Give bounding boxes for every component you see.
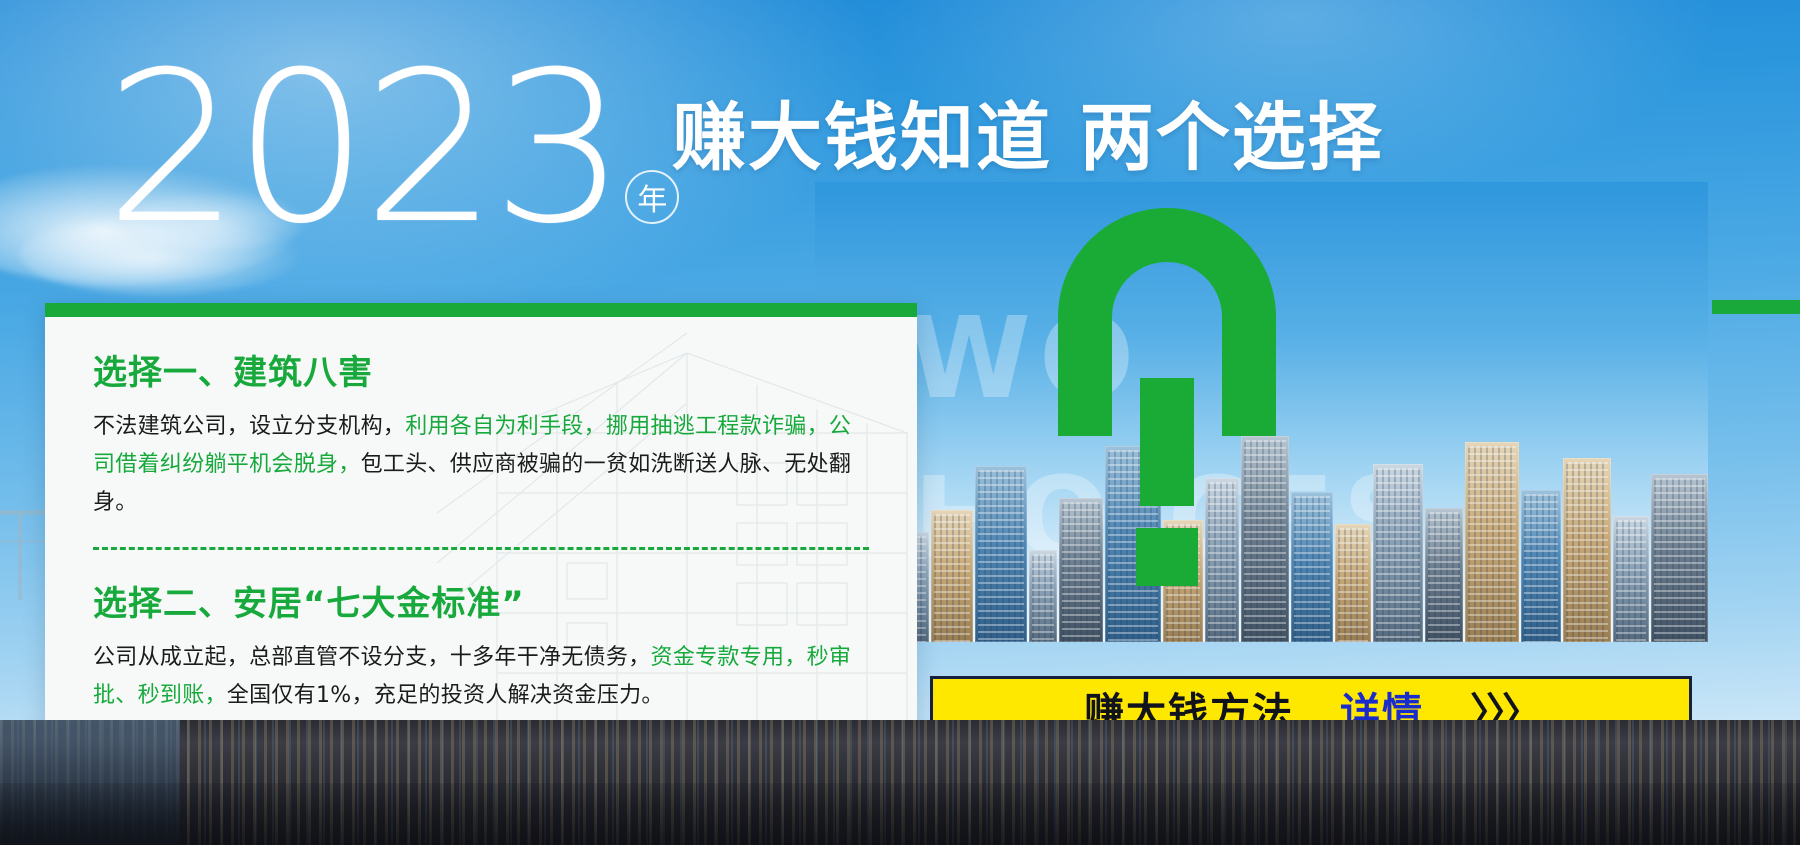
card-body: 选择一、建筑八害 不法建筑公司，设立分支机构，利用各自为利手段，挪用抽逃工程款诈…: [45, 303, 917, 715]
promo-poster: 2023 年 赚大钱知道 两个选择 TWO CHOICES: [0, 0, 1800, 845]
section-two-part-1: 公司从成立起，总部直管不设分支，十多年干净无债务，: [93, 645, 651, 670]
section-one-text: 不法建筑公司，设立分支机构，利用各自为利手段，挪用抽逃工程款诈骗，公司借着纠纷躺…: [93, 408, 869, 521]
section-two-text: 公司从成立起，总部直管不设分支，十多年干净无债务，资金专款专用，秒审批、秒到账，…: [93, 639, 869, 715]
section-two-title: 选择二、安居“七大金标准”: [93, 576, 869, 625]
section-two-part-3: 全国仅有1%，充足的投资人解决资金压力。: [227, 683, 664, 708]
section-one-part-1: 不法建筑公司，设立分支机构，: [93, 414, 405, 439]
page-title: 赚大钱知道 两个选择: [672, 78, 1384, 185]
section-two: 选择二、安居“七大金标准” 公司从成立起，总部直管不设分支，十多年干净无债务，资…: [93, 576, 869, 715]
water-reflection: [0, 720, 180, 845]
section-divider: [93, 547, 869, 550]
section-one-title: 选择一、建筑八害: [93, 345, 869, 394]
question-mark-icon: [1058, 208, 1286, 608]
bottom-city-strip: [0, 720, 1800, 845]
green-accent-tab: [1712, 300, 1800, 314]
section-one: 选择一、建筑八害 不法建筑公司，设立分支机构，利用各自为利手段，挪用抽逃工程款诈…: [93, 345, 869, 521]
right-visual-panel: TWO CHOICES: [815, 182, 1708, 642]
cloud-decoration: [130, 190, 310, 250]
